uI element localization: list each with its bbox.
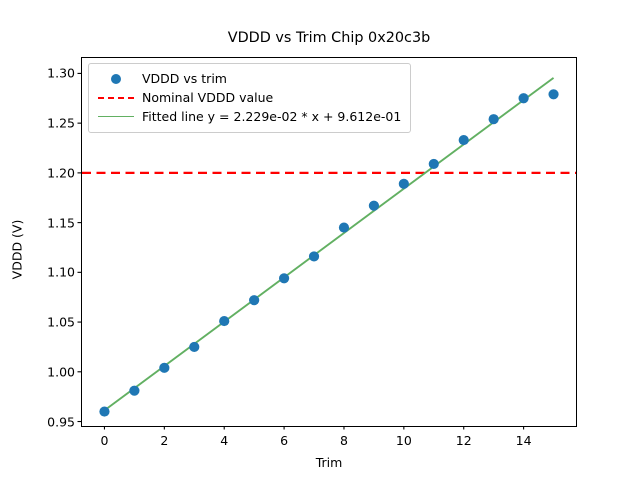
x-tick-label: 6 bbox=[264, 433, 304, 448]
scatter-point bbox=[219, 316, 229, 326]
scatter-point bbox=[249, 295, 259, 305]
scatter-point bbox=[99, 406, 109, 416]
legend-line-icon bbox=[98, 116, 134, 117]
y-tick-label: 1.25 bbox=[29, 116, 75, 131]
y-tick-label: 1.05 bbox=[29, 315, 75, 330]
x-tick-label: 0 bbox=[84, 433, 124, 448]
legend-item-label: VDDD vs trim bbox=[142, 71, 227, 86]
legend-item[interactable]: Nominal VDDD value bbox=[98, 88, 401, 107]
scatter-point bbox=[129, 386, 139, 396]
scatter-point bbox=[519, 93, 529, 103]
x-axis-tick-labels: 02468101214 bbox=[0, 433, 640, 453]
y-axis-tick-labels: 0.951.001.051.101.151.201.251.30 bbox=[25, 0, 75, 480]
chart-legend[interactable]: VDDD vs trimNominal VDDD valueFitted lin… bbox=[88, 63, 411, 133]
scatter-point bbox=[548, 89, 558, 99]
x-tick-label: 14 bbox=[504, 433, 544, 448]
y-tick-label: 1.20 bbox=[29, 165, 75, 180]
x-tick-label: 8 bbox=[324, 433, 364, 448]
x-tick-label: 4 bbox=[204, 433, 244, 448]
legend-dot-icon bbox=[111, 74, 121, 84]
y-tick-label: 0.95 bbox=[29, 414, 75, 429]
y-tick-label: 1.00 bbox=[29, 364, 75, 379]
scatter-point bbox=[399, 179, 409, 189]
scatter-point bbox=[189, 342, 199, 352]
x-tick-label: 2 bbox=[144, 433, 184, 448]
legend-line-icon bbox=[98, 97, 134, 99]
chart-title: VDDD vs Trim Chip 0x20c3b bbox=[81, 30, 577, 46]
scatter-series bbox=[99, 89, 558, 416]
scatter-point bbox=[309, 251, 319, 261]
scatter-point bbox=[489, 114, 499, 124]
legend-scatter-marker-icon bbox=[98, 69, 134, 88]
legend-item[interactable]: Fitted line y = 2.229e-02 * x + 9.612e-0… bbox=[98, 107, 401, 126]
scatter-point bbox=[369, 201, 379, 211]
legend-solid-line-icon bbox=[98, 107, 134, 126]
x-tick-label: 10 bbox=[384, 433, 424, 448]
scatter-point bbox=[459, 135, 469, 145]
scatter-point bbox=[429, 159, 439, 169]
legend-item[interactable]: VDDD vs trim bbox=[98, 69, 401, 88]
scatter-point bbox=[279, 273, 289, 283]
matplotlib-figure: VDDD vs Trim Chip 0x20c3b VDDD (V) 0.951… bbox=[0, 0, 640, 480]
y-tick-label: 1.15 bbox=[29, 215, 75, 230]
y-tick-label: 1.10 bbox=[29, 265, 75, 280]
x-axis-label: Trim bbox=[81, 455, 577, 470]
y-axis-label: VDDD (V) bbox=[10, 185, 25, 315]
legend-item-label: Fitted line y = 2.229e-02 * x + 9.612e-0… bbox=[142, 109, 401, 124]
scatter-point bbox=[339, 222, 349, 232]
y-tick-label: 1.30 bbox=[29, 66, 75, 81]
x-tick-label: 12 bbox=[444, 433, 484, 448]
scatter-point bbox=[159, 363, 169, 373]
legend-item-label: Nominal VDDD value bbox=[142, 90, 273, 105]
legend-dashed-line-icon bbox=[98, 88, 134, 107]
